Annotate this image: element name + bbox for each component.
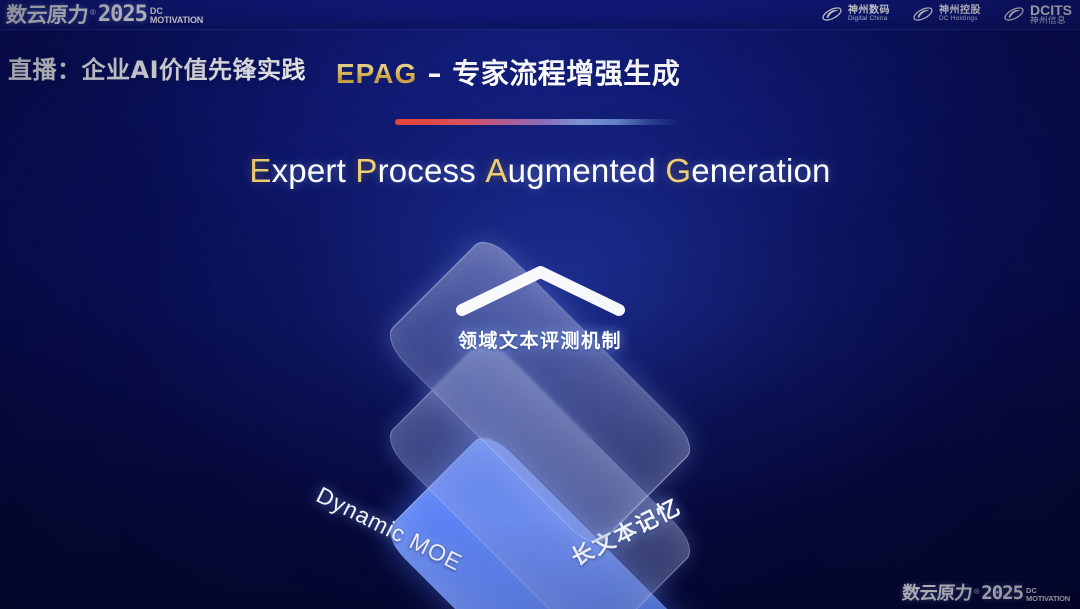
slide-title-acronym: EPAG xyxy=(336,58,417,89)
swirl-logo-icon xyxy=(1003,3,1025,25)
chevron-up-icon xyxy=(448,260,633,322)
event-logo-dc: DC MOTIVATION xyxy=(150,7,203,25)
logo-digital-china: 神州数码 Digital China xyxy=(821,3,890,25)
expansion-cap-2: A xyxy=(485,152,507,189)
expansion-rest-3: eneration xyxy=(691,152,830,189)
top-bar: 数云原力 ® 2025 DC MOTIVATION 神州数码 Digital C… xyxy=(0,0,1080,30)
live-stream-label: 直播：企业AI价值先锋实践 xyxy=(8,50,306,85)
watermark-dc: DC MOTIVATION xyxy=(1026,587,1070,602)
gradient-divider xyxy=(395,119,680,125)
slide-title-separator: – xyxy=(417,57,452,90)
watermark-dc-line2: MOTIVATION xyxy=(1026,595,1070,603)
event-logo-year: 2025 xyxy=(98,4,147,26)
event-logo-name-cn: 数云原力 xyxy=(5,5,88,26)
logo-dcits: DCITS 神州信息 xyxy=(1003,3,1072,26)
watermark-year: 2025 xyxy=(981,584,1023,603)
expansion-rest-0: xpert xyxy=(272,152,346,189)
slide-title: EPAG – 专家流程增强生成 xyxy=(336,52,680,92)
slide-title-chinese: 专家流程增强生成 xyxy=(452,57,680,90)
swirl-logo-icon xyxy=(821,3,843,25)
event-logo: 数云原力 ® 2025 DC MOTIVATION xyxy=(0,4,203,26)
logo-dc-holdings-en: DC Holdings xyxy=(939,16,981,23)
diagram-layer-top: 领域文本评测机制 xyxy=(240,222,840,562)
corner-watermark: 数云原力 ® 2025 DC MOTIVATION xyxy=(902,584,1070,603)
logo-dcits-text: DCITS 神州信息 xyxy=(1030,3,1072,26)
logo-dcits-en: DCITS xyxy=(1030,3,1072,17)
logo-dc-holdings-text: 神州控股 DC Holdings xyxy=(939,6,981,23)
registered-mark-icon: ® xyxy=(90,9,96,17)
watermark-registered-mark-icon: ® xyxy=(974,589,979,596)
slide-canvas: 数云原力 ® 2025 DC MOTIVATION 神州数码 Digital C… xyxy=(0,0,1080,609)
watermark-name-cn: 数云原力 xyxy=(901,585,972,603)
logo-digital-china-text: 神州数码 Digital China xyxy=(848,6,890,23)
expansion-cap-0: E xyxy=(249,152,271,189)
expansion-cap-3: G xyxy=(665,152,691,189)
expansion-cap-1: P xyxy=(355,152,377,189)
sponsor-logo-group: 神州数码 Digital China 神州控股 DC Holdings xyxy=(821,3,1080,26)
acronym-expansion: Expert Process Augmented Generation xyxy=(0,152,1080,190)
swirl-logo-icon xyxy=(912,3,934,25)
layer-stack-diagram: 三类语义建模模块 Dynamic MOE 长文本记忆 领域文本评测机制 xyxy=(240,228,840,568)
logo-dcits-cn: 神州信息 xyxy=(1030,17,1072,26)
expansion-rest-2: ugmented xyxy=(508,152,656,189)
event-logo-dc-line2: MOTIVATION xyxy=(150,16,203,25)
logo-digital-china-en: Digital China xyxy=(848,16,890,23)
logo-dc-holdings: 神州控股 DC Holdings xyxy=(912,3,981,25)
expansion-rest-1: rocess xyxy=(378,152,476,189)
